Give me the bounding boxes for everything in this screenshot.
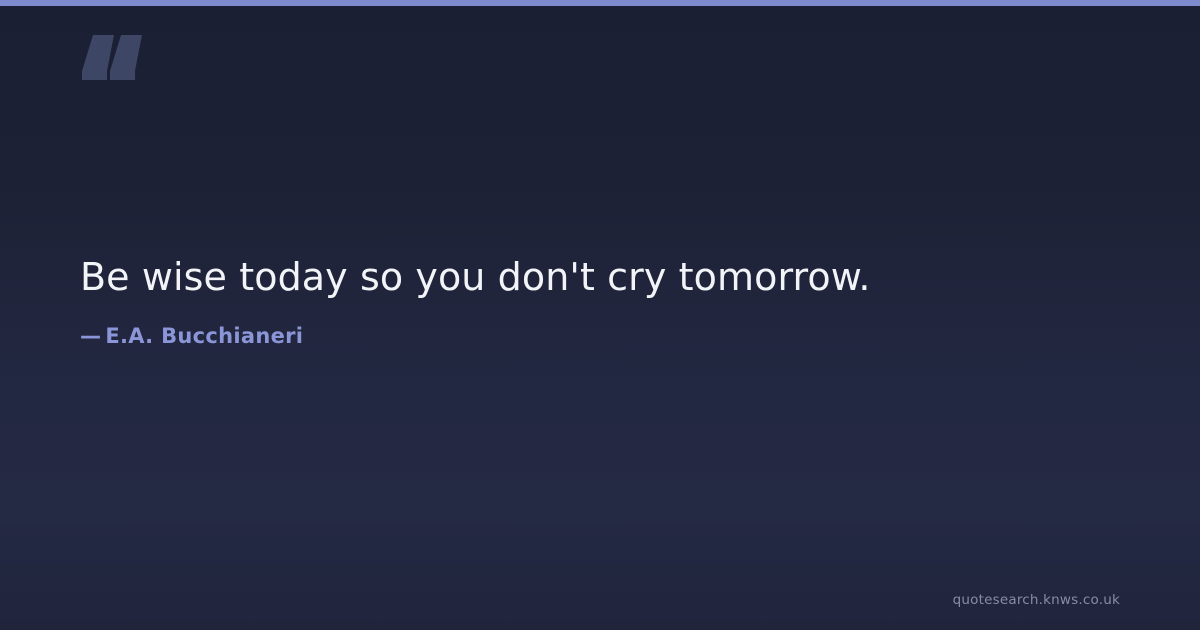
quote-text: Be wise today so you don't cry tomorrow. — [80, 252, 1120, 303]
author-name: E.A. Bucchianeri — [105, 324, 303, 348]
attribution-dash: — — [80, 324, 101, 348]
top-accent-bar — [0, 0, 1200, 6]
quote-card: Be wise today so you don't cry tomorrow.… — [0, 0, 1200, 630]
quote-body: Be wise today so you don't cry tomorrow.… — [80, 252, 1120, 348]
quote-attribution: —E.A. Bucchianeri — [80, 324, 1120, 348]
site-watermark: quotesearch.knws.co.uk — [953, 592, 1120, 608]
opening-quote-mark-icon — [80, 20, 200, 100]
